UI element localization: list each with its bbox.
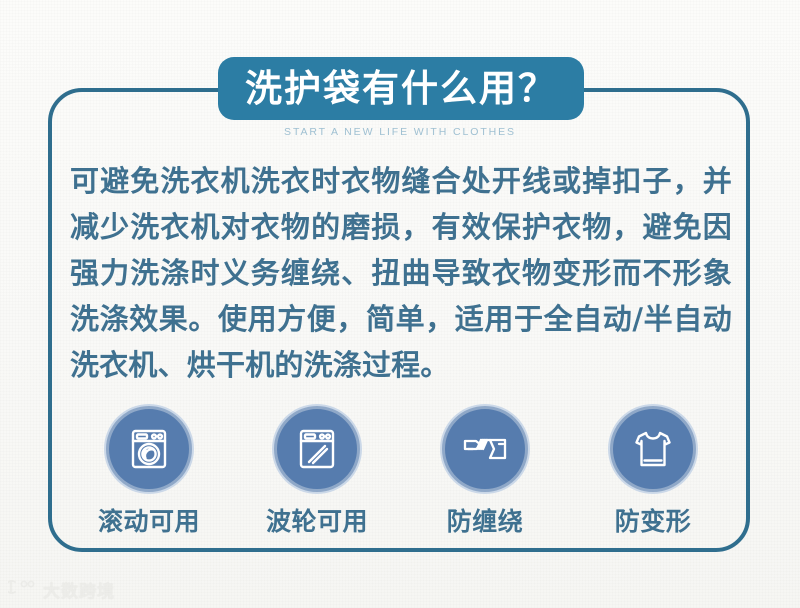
watermark: 大数跨境 <box>8 577 115 602</box>
feature-badge <box>442 406 528 492</box>
feature-label: 防变形 <box>615 502 692 538</box>
body-paragraph: 可避免洗衣机洗衣时衣物缝合处开线或掉扣子，并减少洗衣机对衣物的磨损，有效保护衣物… <box>70 158 732 388</box>
feature-item-anti-deform: 防变形 <box>574 406 732 538</box>
tshirt-icon <box>628 424 678 474</box>
feature-badge <box>106 406 192 492</box>
poster-canvas: 洗护袋有什么用？ START A NEW LIFE WITH CLOTHES 可… <box>0 0 800 608</box>
feature-list: 滚动可用 波轮可用 <box>70 406 732 538</box>
watermark-text: 大数跨境 <box>43 577 115 602</box>
feature-label: 防缠绕 <box>447 502 524 538</box>
page-subtitle: START A NEW LIFE WITH CLOTHES <box>0 126 800 138</box>
top-load-washer-icon <box>292 424 342 474</box>
feature-badge <box>610 406 696 492</box>
feature-item-top-load: 波轮可用 <box>238 406 396 538</box>
feature-badge <box>274 406 360 492</box>
feature-item-front-load: 滚动可用 <box>70 406 228 538</box>
dsj-logo-icon <box>8 578 38 601</box>
feature-label: 滚动可用 <box>98 502 200 538</box>
anti-tangle-icon <box>459 423 511 475</box>
title-banner: 洗护袋有什么用？ <box>218 57 584 120</box>
front-load-washer-icon <box>124 424 174 474</box>
feature-item-anti-tangle: 防缠绕 <box>406 406 564 538</box>
page-title: 洗护袋有什么用？ <box>245 70 557 107</box>
feature-label: 波轮可用 <box>266 502 368 538</box>
